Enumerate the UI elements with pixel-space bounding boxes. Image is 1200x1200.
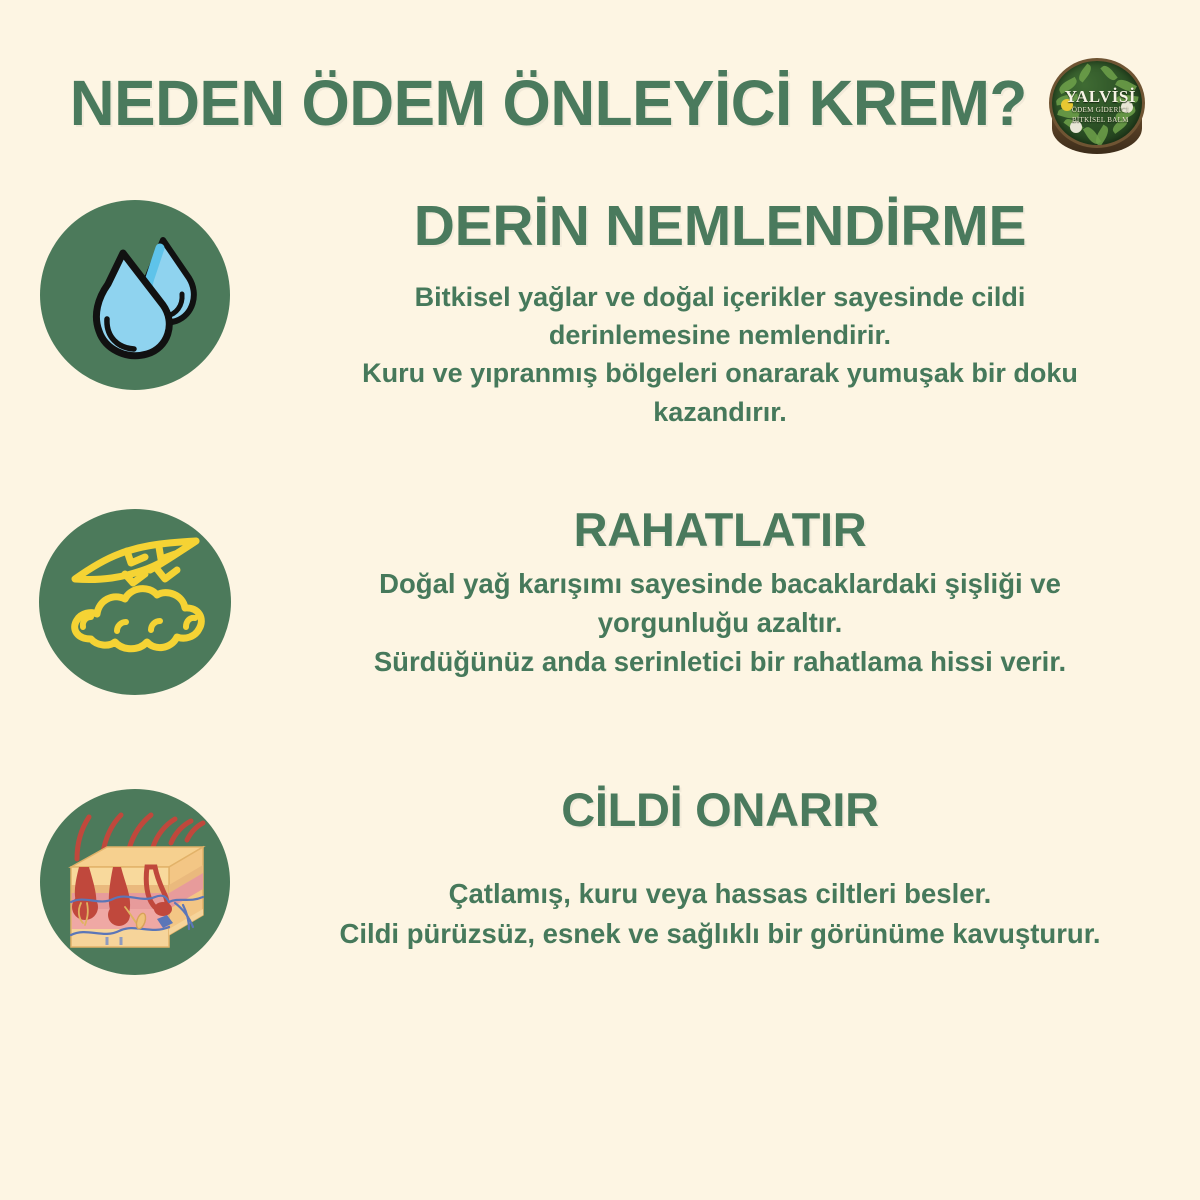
product-tin: YALVİSİ ÖDEM GİDERİCİ BİTKİSEL BALM xyxy=(1049,52,1145,158)
body-line: Doğal yağ karışımı sayesinde bacaklardak… xyxy=(270,564,1170,603)
feature-section-deep-moisturizing: DERİN NEMLENDİRME Bitkisel yağlar ve doğ… xyxy=(0,196,1200,496)
page-title: NEDEN ÖDEM ÖNLEYİCİ KREM? xyxy=(69,71,1026,135)
section-body: Çatlamış, kuru veya hassas ciltleri besl… xyxy=(270,874,1170,954)
page-header: NEDEN ÖDEM ÖNLEYİCİ KREM? YALVİSİ ÖDEM G… xyxy=(0,48,1200,158)
text-column: RAHATLATIR Doğal yağ karışımı sayesinde … xyxy=(270,505,1200,681)
icon-column xyxy=(0,196,270,390)
body-line: Bitkisel yağlar ve doğal içerikler sayes… xyxy=(270,278,1170,316)
icon-badge-circle xyxy=(40,789,230,975)
icon-badge-circle xyxy=(40,200,230,390)
body-line: yorgunluğu azaltır. xyxy=(270,603,1170,642)
body-line: Sürdüğünüz anda serinletici bir rahatlam… xyxy=(270,642,1170,681)
feather-cloud-icon xyxy=(55,527,215,677)
feature-section-soothing: RAHATLATIR Doğal yağ karışımı sayesinde … xyxy=(0,505,1200,765)
icon-column xyxy=(0,505,270,695)
skin-cross-section-icon xyxy=(55,807,215,957)
body-line: Çatlamış, kuru veya hassas ciltleri besl… xyxy=(270,874,1170,914)
body-line: kazandırır. xyxy=(270,393,1170,431)
water-droplets-icon xyxy=(60,220,210,370)
icon-column xyxy=(0,785,270,975)
tin-subtitle-line-2: BİTKİSEL BALM xyxy=(1072,116,1129,125)
icon-badge-circle xyxy=(39,509,231,695)
feature-section-skin-repair: CİLDİ ONARIR Çatlamış, kuru veya hassas … xyxy=(0,785,1200,1050)
text-column: DERİN NEMLENDİRME Bitkisel yağlar ve doğ… xyxy=(270,196,1200,431)
body-line: derinlemesine nemlendirir. xyxy=(270,316,1170,354)
body-line: Cildi pürüzsüz, esnek ve sağlıklı bir gö… xyxy=(270,914,1170,954)
section-title: DERİN NEMLENDİRME xyxy=(270,196,1170,258)
tin-brand-name: YALVİSİ xyxy=(1065,88,1136,105)
section-body: Bitkisel yağlar ve doğal içerikler sayes… xyxy=(270,278,1170,431)
text-column: CİLDİ ONARIR Çatlamış, kuru veya hassas … xyxy=(270,785,1200,954)
tin-subtitle-line-1: ÖDEM GİDERİCİ xyxy=(1072,106,1129,115)
body-line: Kuru ve yıpranmış bölgeleri onararak yum… xyxy=(270,354,1170,392)
section-body: Doğal yağ karışımı sayesinde bacaklardak… xyxy=(270,564,1170,681)
section-title: RAHATLATIR xyxy=(270,505,1170,556)
section-title: CİLDİ ONARIR xyxy=(270,785,1170,836)
product-tin-lid: YALVİSİ ÖDEM GİDERİCİ BİTKİSEL BALM xyxy=(1049,58,1145,148)
